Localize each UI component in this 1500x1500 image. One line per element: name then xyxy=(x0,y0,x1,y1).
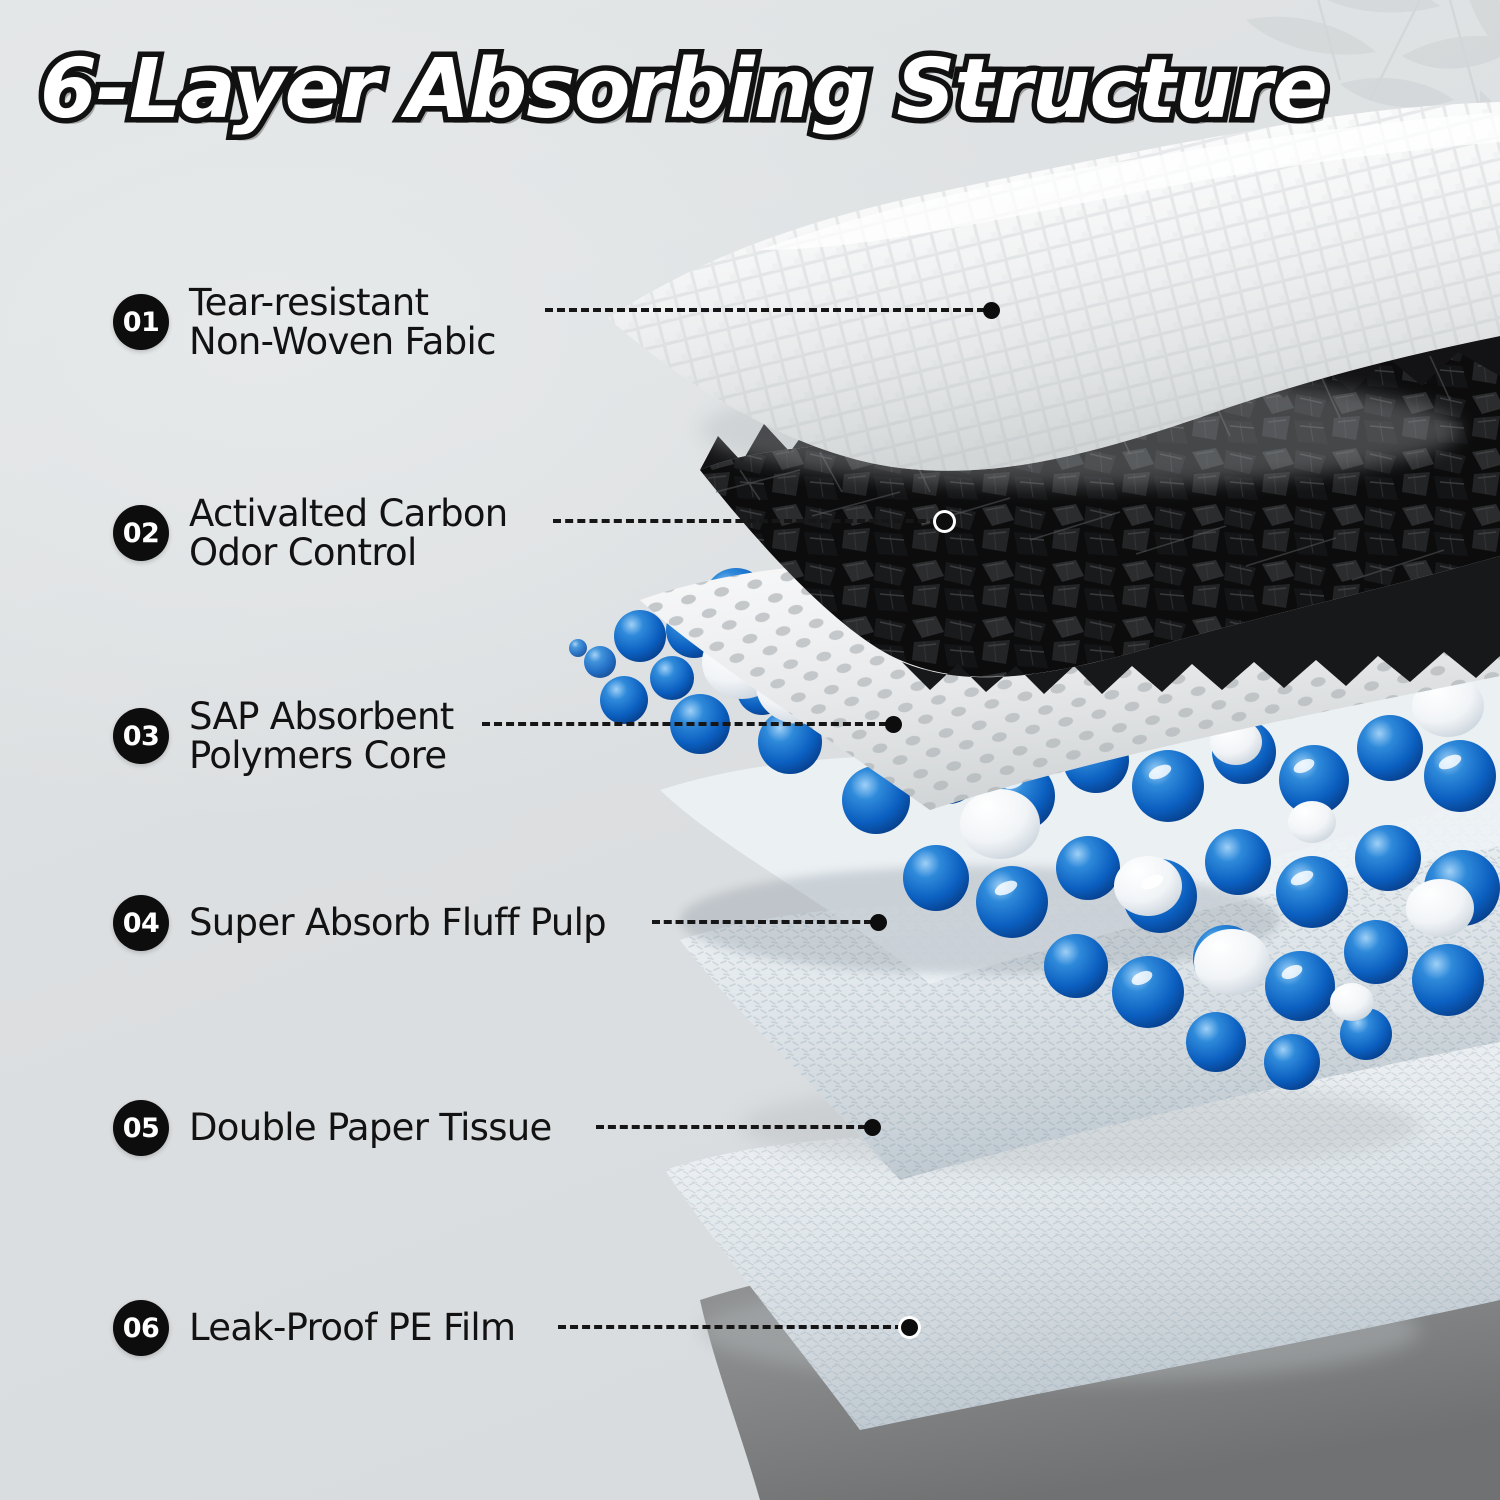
leader-line-01 xyxy=(545,308,1000,312)
layer-caption-line1: Tear-resistant xyxy=(189,281,428,324)
layer-number-badge-01: 01 xyxy=(113,294,169,350)
leader-line-03 xyxy=(482,722,902,726)
leader-dash xyxy=(545,308,985,312)
leader-dash xyxy=(596,1125,866,1129)
layer-caption-line1: SAP Absorbent xyxy=(189,695,454,738)
callout-layer-01[interactable]: 01 Tear-resistant Non-Woven Fabic xyxy=(113,283,496,361)
layer-number-badge-03: 03 xyxy=(113,708,169,764)
leader-endpoint-dot xyxy=(885,716,902,733)
leader-endpoint-dot xyxy=(870,914,887,931)
leader-endpoint-dot xyxy=(864,1119,881,1136)
layer-caption-line1: Super Absorb Fluff Pulp xyxy=(189,901,606,944)
layer-caption-04: Super Absorb Fluff Pulp xyxy=(189,903,606,942)
leader-dash xyxy=(553,519,938,523)
layer-caption-01: Tear-resistant Non-Woven Fabic xyxy=(189,283,496,361)
leader-endpoint-dot xyxy=(901,1319,918,1336)
layer-number-badge-06: 06 xyxy=(113,1300,169,1356)
page-title: 6-Layer Absorbing Structure xyxy=(40,38,1460,148)
leader-line-02 xyxy=(553,519,953,523)
leader-line-06 xyxy=(558,1325,918,1329)
leader-endpoint-dot xyxy=(983,302,1000,319)
leader-line-05 xyxy=(596,1125,881,1129)
layer-caption-line2: Odor Control xyxy=(189,533,508,572)
layer-caption-line1: Activalted Carbon xyxy=(189,492,508,535)
layer-number-badge-02: 02 xyxy=(113,505,169,561)
callout-layer-05[interactable]: 05 Double Paper Tissue xyxy=(113,1100,552,1156)
infographic-canvas: 6-Layer Absorbing Structure 01 Tear-resi… xyxy=(0,0,1500,1500)
layer-non-woven-top xyxy=(608,102,1500,486)
layer-number-badge-05: 05 xyxy=(113,1100,169,1156)
leader-dash xyxy=(652,920,872,924)
layer-caption-06: Leak-Proof PE Film xyxy=(189,1308,515,1347)
layer-caption-03: SAP Absorbent Polymers Core xyxy=(189,697,454,775)
layer-caption-05: Double Paper Tissue xyxy=(189,1108,552,1147)
leader-endpoint-dot xyxy=(936,513,953,530)
layer-number-badge-04: 04 xyxy=(113,895,169,951)
page-title-text: 6-Layer Absorbing Structure xyxy=(40,38,1460,142)
layer-caption-line2: Non-Woven Fabic xyxy=(189,322,496,361)
callout-layer-04[interactable]: 04 Super Absorb Fluff Pulp xyxy=(113,895,606,951)
layer-caption-02: Activalted Carbon Odor Control xyxy=(189,494,508,572)
callout-layer-03[interactable]: 03 SAP Absorbent Polymers Core xyxy=(113,697,454,775)
layer-caption-line1: Double Paper Tissue xyxy=(189,1106,552,1149)
leader-dash xyxy=(558,1325,903,1329)
callout-layer-02[interactable]: 02 Activalted Carbon Odor Control xyxy=(113,494,508,572)
layer-caption-line2: Polymers Core xyxy=(189,736,454,775)
leader-line-04 xyxy=(652,920,887,924)
leader-dash xyxy=(482,722,887,726)
layer-caption-line1: Leak-Proof PE Film xyxy=(189,1306,515,1349)
callout-layer-06[interactable]: 06 Leak-Proof PE Film xyxy=(113,1300,515,1356)
